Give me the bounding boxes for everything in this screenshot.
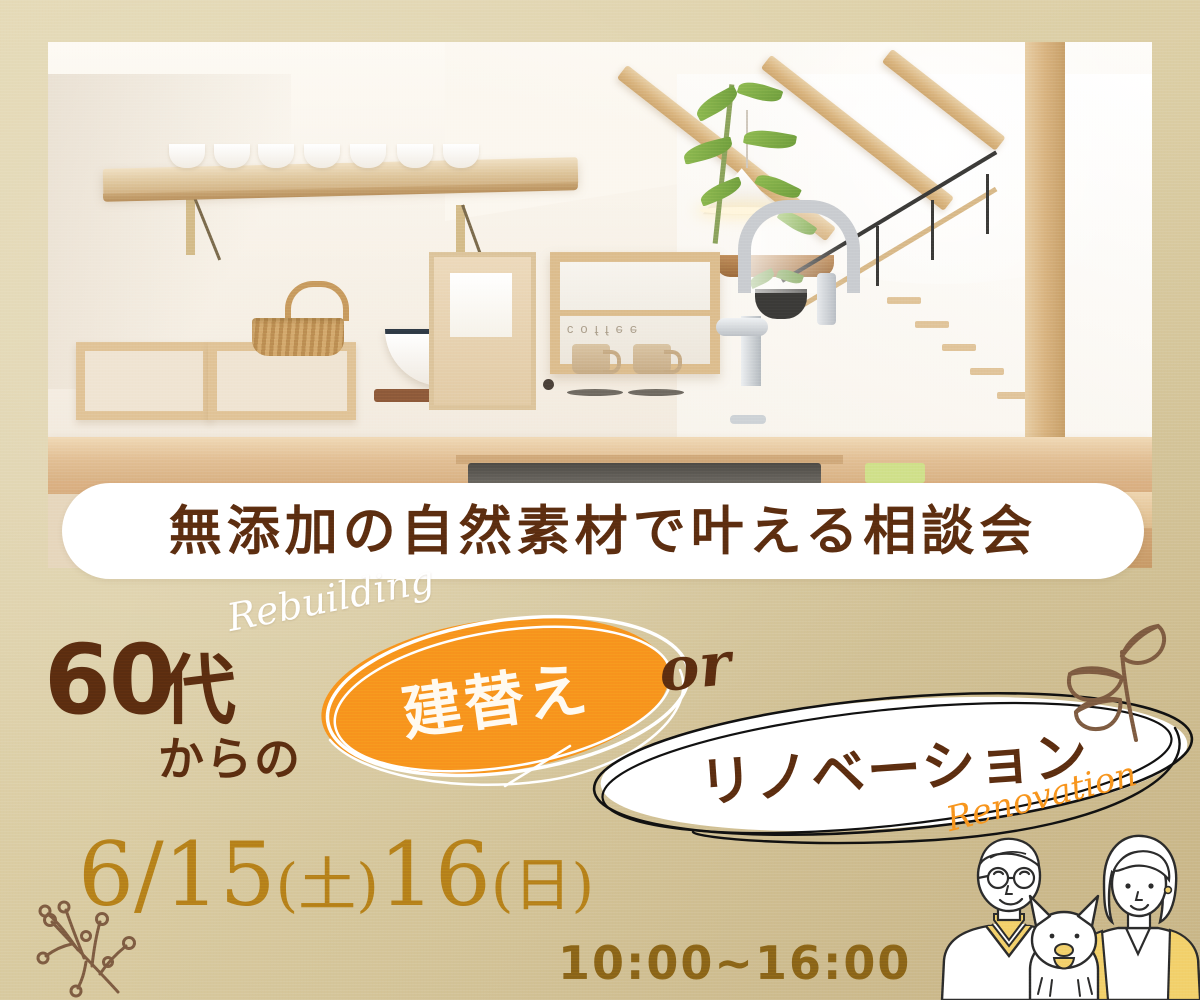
date-second: 16	[379, 823, 491, 926]
poster-canvas: coffee	[0, 0, 1200, 1000]
age-unit: 代	[160, 653, 236, 729]
event-date: 6/15(土)16(日)	[78, 831, 594, 919]
age-from-label: からの	[158, 736, 302, 782]
elderly-couple-with-dog-illustration	[930, 828, 1200, 1000]
leaf-branch-icon	[1008, 608, 1200, 744]
date-day1: (土)	[276, 851, 379, 919]
event-time: 10:00~16:00	[558, 936, 911, 990]
case-label: coffee	[567, 323, 644, 338]
date-day2: (日)	[491, 851, 594, 919]
conjunction-or: or	[656, 629, 735, 706]
headline-pill: 無添加の自然素材で叶える相談会	[62, 483, 1144, 579]
age-number: 60	[44, 632, 174, 728]
berry-sprig-icon	[22, 880, 152, 1000]
headline-text: 無添加の自然素材で叶える相談会	[169, 505, 1037, 558]
